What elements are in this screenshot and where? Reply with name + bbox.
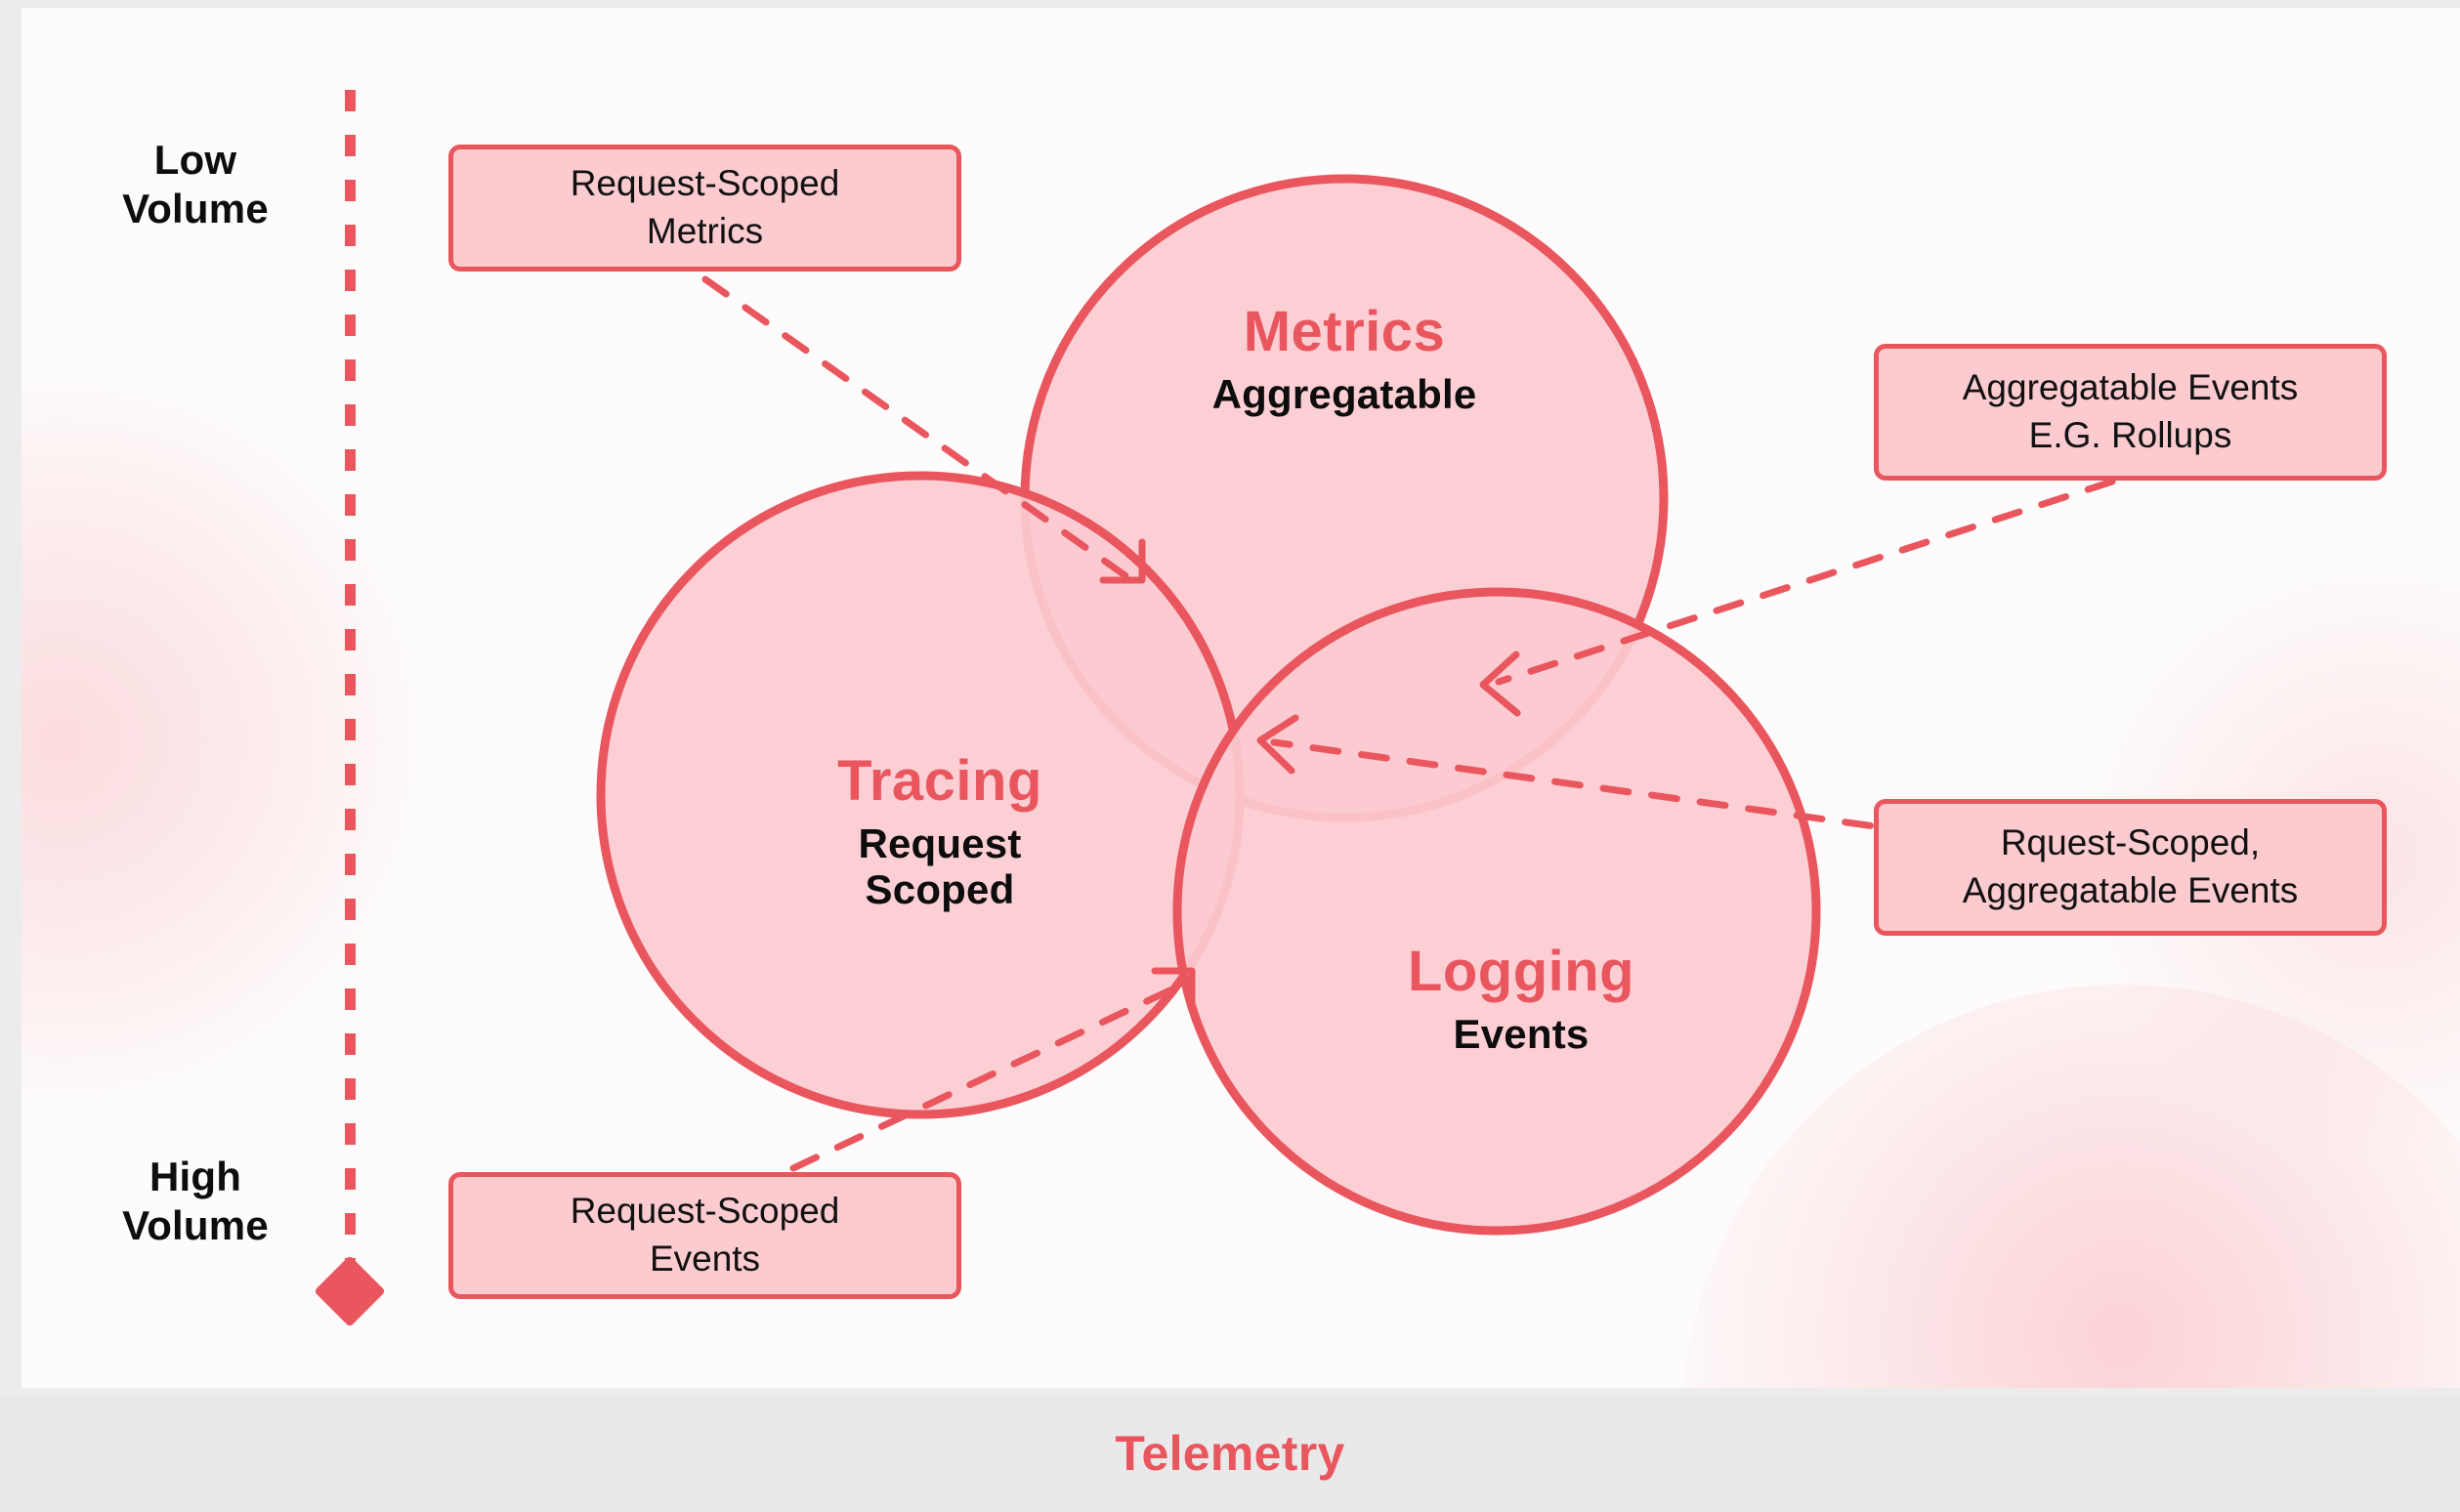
- venn-label-tracing-title: Tracing: [705, 750, 1174, 814]
- venn-label-tracing: Tracing Request Scoped: [705, 750, 1174, 912]
- venn-label-tracing-subtitle-line2: Scoped: [705, 866, 1174, 912]
- venn-label-logging-subtitle: Events: [1292, 1011, 1751, 1057]
- callout-request-scoped-aggregatable-events-line2: Aggregatable Events: [1963, 867, 2299, 915]
- callout-request-scoped-metrics-line1: Request-Scoped: [571, 160, 840, 208]
- callout-request-scoped-events-text: Request-Scoped Events: [571, 1188, 840, 1283]
- callout-aggregatable-events-line2: E.G. Rollups: [1963, 412, 2299, 460]
- venn-label-logging: Logging Events: [1292, 941, 1751, 1057]
- callout-request-scoped-metrics[interactable]: Request-Scoped Metrics: [448, 145, 961, 272]
- callout-request-scoped-events-line2: Events: [571, 1236, 840, 1283]
- venn-label-metrics-title: Metrics: [1096, 301, 1592, 364]
- callout-request-scoped-events-line1: Request-Scoped: [571, 1188, 840, 1236]
- callout-request-scoped-metrics-text: Request-Scoped Metrics: [571, 160, 840, 256]
- callout-aggregatable-events-text: Aggregatable Events E.G. Rollups: [1963, 364, 2299, 460]
- venn-label-tracing-subtitle-line1: Request: [705, 820, 1174, 866]
- diagram-canvas: Low Volume High Volume: [21, 8, 2460, 1388]
- diagram-root: Low Volume High Volume: [0, 0, 2460, 1512]
- venn-label-logging-title: Logging: [1292, 941, 1751, 1004]
- venn-diagram: [21, 8, 2460, 1388]
- footer-title: Telemetry: [1115, 1425, 1344, 1482]
- venn-label-tracing-subtitle: Request Scoped: [705, 820, 1174, 912]
- callout-request-scoped-metrics-line2: Metrics: [571, 208, 840, 256]
- venn-label-metrics-subtitle: Aggregatable: [1096, 371, 1592, 417]
- footer-bar: Telemetry: [0, 1395, 2460, 1512]
- venn-circle-logging[interactable]: [1177, 592, 1816, 1231]
- callout-aggregatable-events-line1: Aggregatable Events: [1963, 364, 2299, 412]
- callout-aggregatable-events[interactable]: Aggregatable Events E.G. Rollups: [1874, 344, 2387, 481]
- callout-request-scoped-events[interactable]: Request-Scoped Events: [448, 1172, 961, 1299]
- venn-label-metrics: Metrics Aggregatable: [1096, 301, 1592, 417]
- callout-request-scoped-aggregatable-events-line1: Rquest-Scoped,: [1963, 819, 2299, 867]
- callout-request-scoped-aggregatable-events-text: Rquest-Scoped, Aggregatable Events: [1963, 819, 2299, 915]
- callout-request-scoped-aggregatable-events[interactable]: Rquest-Scoped, Aggregatable Events: [1874, 799, 2387, 936]
